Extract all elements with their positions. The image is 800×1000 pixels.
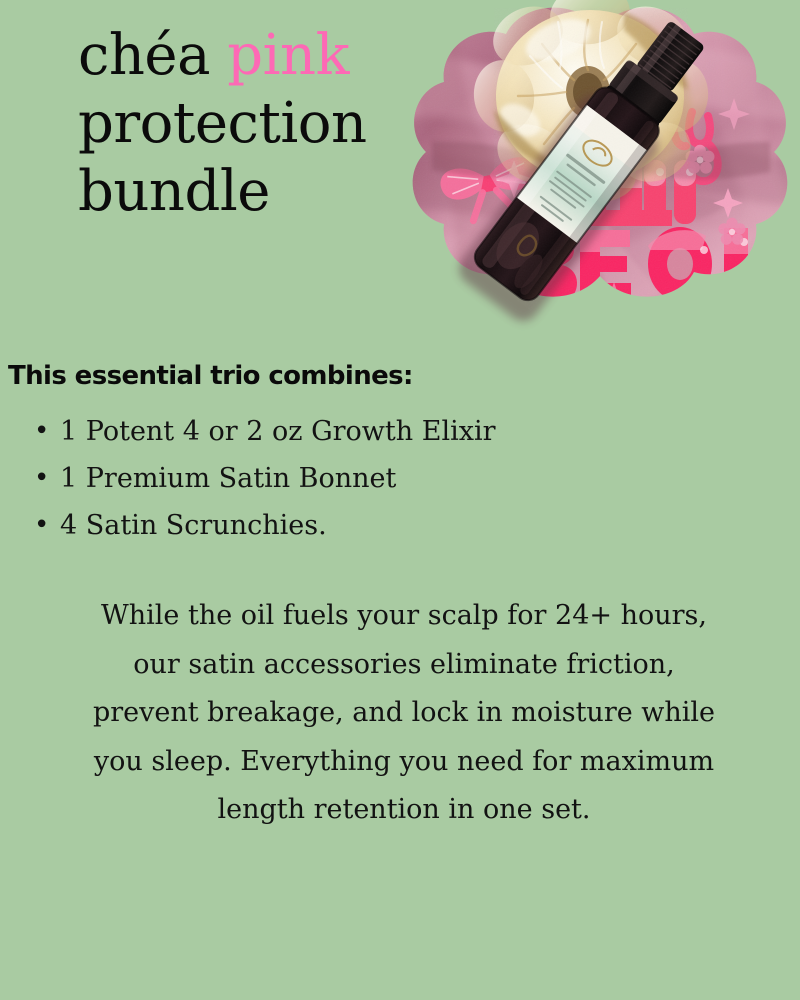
page-title: chéa pink protection bundle	[78, 22, 498, 226]
headline-line-3: bundle	[78, 158, 498, 226]
headline-brand-word: chéa	[78, 23, 227, 88]
promo-graphic-canvas: chéa pink protection bundle This essenti…	[0, 0, 800, 1000]
description-paragraph: While the oil fuels your scalp for 24+ h…	[80, 592, 728, 835]
list-item: 4 Satin Scrunchies.	[30, 502, 750, 549]
trio-heading: This essential trio combines:	[8, 361, 413, 391]
headline-accent-word: pink	[227, 23, 349, 88]
list-item: 1 Premium Satin Bonnet	[30, 455, 750, 502]
headline-line-1: chéa pink	[78, 22, 498, 90]
bow-graphic-right	[697, 276, 779, 313]
bundle-contents-list: 1 Potent 4 or 2 oz Growth Elixir 1 Premi…	[30, 408, 750, 549]
list-item: 1 Potent 4 or 2 oz Growth Elixir	[30, 408, 750, 455]
headline-line-2: protection	[78, 90, 498, 158]
